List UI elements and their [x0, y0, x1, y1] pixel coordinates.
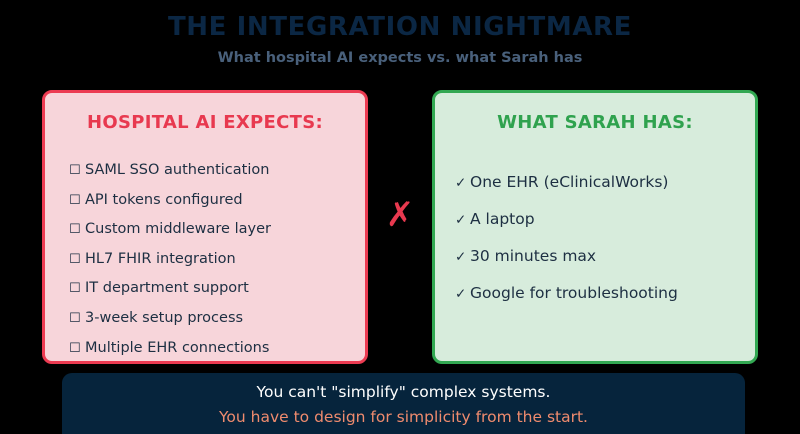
- list-item-label: 30 minutes max: [470, 238, 596, 274]
- empty-checkbox-icon: ☐: [69, 246, 85, 275]
- list-item-label: SAML SSO authentication: [85, 156, 269, 185]
- list-item-label: HL7 FHIR integration: [85, 245, 236, 274]
- list-item: ✓ Google for troubleshooting: [455, 275, 755, 312]
- card-what-sarah-has: WHAT SARAH HAS: ✓ One EHR (eClinicalWork…: [432, 90, 758, 364]
- empty-checkbox-icon: ☐: [69, 187, 85, 216]
- header: THE INTEGRATION NIGHTMARE What hospital …: [0, 12, 800, 68]
- page-title: THE INTEGRATION NIGHTMARE: [0, 12, 800, 42]
- list-item-label: A laptop: [470, 201, 535, 237]
- infographic-root: THE INTEGRATION NIGHTMARE What hospital …: [0, 0, 800, 434]
- card-title-has: WHAT SARAH HAS:: [435, 112, 755, 134]
- list-item: ☐ Custom middleware layer: [69, 215, 365, 245]
- list-item: ☐ API tokens configured: [69, 186, 365, 216]
- empty-checkbox-icon: ☐: [69, 305, 85, 334]
- expects-list: ☐ SAML SSO authentication ☐ API tokens c…: [45, 156, 365, 363]
- has-list: ✓ One EHR (eClinicalWorks) ✓ A laptop ✓ …: [435, 164, 755, 312]
- list-item-label: API tokens configured: [85, 186, 243, 215]
- list-item-label: IT department support: [85, 274, 249, 303]
- list-item: ✓ A laptop: [455, 201, 755, 238]
- list-item-label: 3-week setup process: [85, 304, 243, 333]
- banner-line-1: You can't "simplify" complex systems.: [62, 380, 745, 405]
- x-mark-icon: ✗: [368, 185, 432, 245]
- list-item-label: Custom middleware layer: [85, 215, 271, 244]
- list-item-label: Google for troubleshooting: [470, 275, 678, 311]
- list-item-label: One EHR (eClinicalWorks): [470, 164, 668, 200]
- empty-checkbox-icon: ☐: [69, 216, 85, 245]
- checkmark-icon: ✓: [455, 202, 470, 238]
- list-item: ☐ 3-week setup process: [69, 304, 365, 334]
- empty-checkbox-icon: ☐: [69, 275, 85, 304]
- list-item-label: Multiple EHR connections: [85, 334, 269, 363]
- empty-checkbox-icon: ☐: [69, 335, 85, 364]
- card-title-expects: HOSPITAL AI EXPECTS:: [45, 112, 365, 134]
- list-item: ✓ 30 minutes max: [455, 238, 755, 275]
- banner-line-2: You have to design for simplicity from t…: [62, 405, 745, 430]
- page-subtitle: What hospital AI expects vs. what Sarah …: [0, 48, 800, 68]
- list-item: ✓ One EHR (eClinicalWorks): [455, 164, 755, 201]
- bottom-banner: You can't "simplify" complex systems. Yo…: [62, 373, 745, 434]
- list-item: ☐ SAML SSO authentication: [69, 156, 365, 186]
- list-item: ☐ Multiple EHR connections: [69, 334, 365, 364]
- checkmark-icon: ✓: [455, 276, 470, 312]
- empty-checkbox-icon: ☐: [69, 157, 85, 186]
- list-item: ☐ IT department support: [69, 274, 365, 304]
- card-hospital-ai-expects: HOSPITAL AI EXPECTS: ☐ SAML SSO authenti…: [42, 90, 368, 364]
- checkmark-icon: ✓: [455, 165, 470, 201]
- checkmark-icon: ✓: [455, 239, 470, 275]
- list-item: ☐ HL7 FHIR integration: [69, 245, 365, 275]
